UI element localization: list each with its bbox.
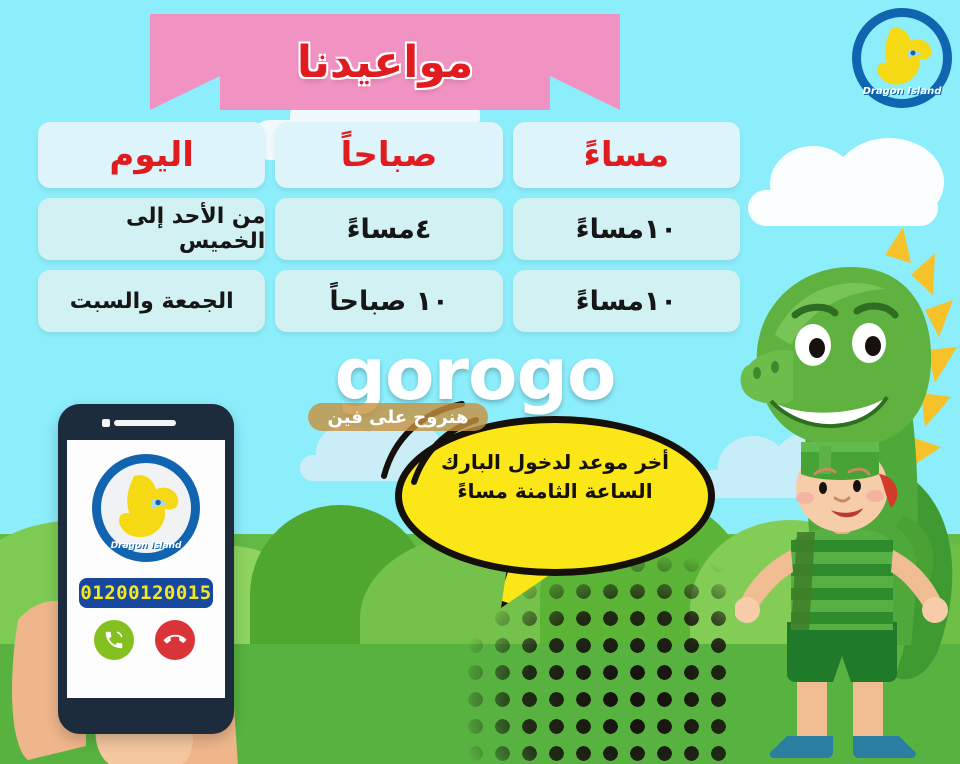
- value-day-row1: من الأحد إلى الخميس: [38, 204, 265, 254]
- value-evening-row1: ١٠مساءً: [576, 214, 677, 245]
- value-morning-row2: ١٠ صباحاً: [329, 286, 448, 317]
- header-cell-day: اليوم: [38, 122, 265, 188]
- speaker-grill: [114, 420, 176, 426]
- cell-evening-row2: ١٠مساءً: [513, 270, 740, 332]
- watermark-tagline: هنروح على فين: [328, 407, 469, 428]
- page-title: مواعيدنا: [150, 14, 620, 110]
- watermark-word: gorogo: [305, 341, 645, 407]
- watermark-tagline-badge: هنروح على فين: [308, 403, 488, 431]
- cell-day-row1: من الأحد إلى الخميس: [38, 198, 265, 260]
- header-label-evening: مساءً: [583, 135, 669, 175]
- value-morning-row1: ٤مساءً: [347, 214, 432, 245]
- table-header-row: مساءً صباحاً اليوم: [38, 122, 740, 188]
- phone-number-value: 01200120015: [80, 582, 211, 604]
- call-accept-button[interactable]: [94, 620, 134, 660]
- dragon-head-icon: [101, 463, 191, 553]
- call-decline-button[interactable]: [155, 620, 195, 660]
- phone-number-field: 01200120015: [79, 578, 213, 608]
- header-label-day: اليوم: [109, 135, 194, 175]
- value-day-row2: الجمعة والسبت: [70, 289, 234, 314]
- boy-character: [735, 440, 950, 764]
- header-cell-morning: صباحاً: [275, 122, 502, 188]
- cell-morning-row2: ١٠ صباحاً: [275, 270, 502, 332]
- cell-evening-row1: ١٠مساءً: [513, 198, 740, 260]
- header-cell-evening: مساءً: [513, 122, 740, 188]
- watermark: gorogo هنروح على فين: [305, 341, 645, 433]
- phone-brand-logo: Dragon Island: [92, 454, 200, 562]
- cell-morning-row1: ٤مساءً: [275, 198, 502, 260]
- phone-call-icon: [103, 629, 125, 651]
- phone-screen: Dragon Island 01200120015: [67, 440, 225, 698]
- header-label-morning: صباحاً: [341, 135, 438, 175]
- value-evening-row2: ١٠مساءً: [576, 286, 677, 317]
- schedule-table: مساءً صباحاً اليوم ١٠مساءً ٤مساءً من الأ…: [38, 122, 740, 342]
- camera-icon: [102, 419, 110, 427]
- brand-logo-label: Dragon Island: [861, 86, 943, 97]
- cell-day-row2: الجمعة والسبت: [38, 270, 265, 332]
- table-row: ١٠مساءً ٤مساءً من الأحد إلى الخميس: [38, 198, 740, 260]
- banner-ribbon: مواعيدنا: [150, 14, 620, 114]
- brand-logo: Dragon Island: [852, 8, 952, 108]
- table-row: ١٠مساءً ١٠ صباحاً الجمعة والسبت: [38, 270, 740, 332]
- poster-root: مواعيدنا Dragon Island مساءً صباحاً اليو…: [0, 0, 960, 764]
- phone-mockup: Dragon Island 01200120015: [58, 404, 234, 734]
- phone-brand-logo-label: Dragon Island: [101, 541, 191, 551]
- phone-hangup-icon: [159, 624, 190, 655]
